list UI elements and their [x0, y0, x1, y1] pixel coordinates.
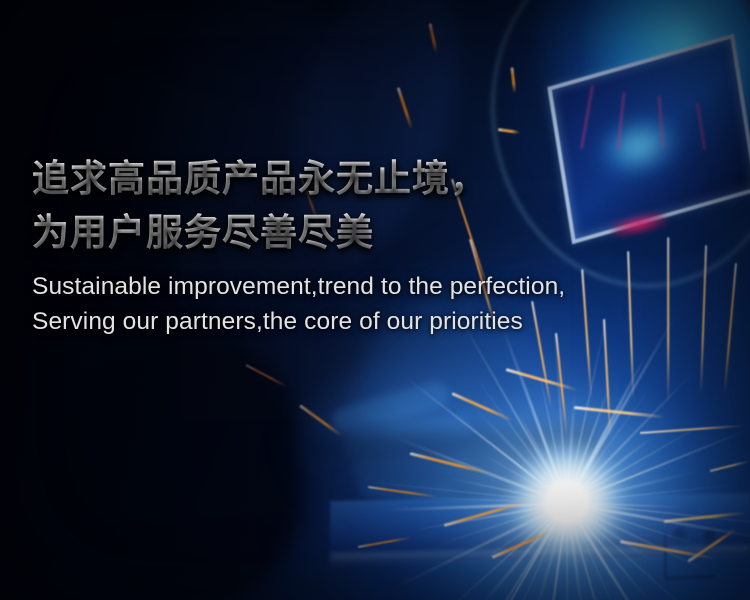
- arc-ray: [501, 502, 567, 600]
- spark-streak: [574, 406, 666, 418]
- arc-ray: [449, 477, 567, 504]
- spark-streak: [723, 263, 736, 395]
- spark-streak: [640, 425, 744, 435]
- spark-streak: [245, 364, 287, 388]
- arc-ray: [566, 436, 653, 505]
- arc-ray: [566, 502, 629, 600]
- arc-ray: [567, 502, 706, 600]
- arc-ray: [387, 502, 567, 511]
- arc-ray: [566, 371, 694, 503]
- arc-ray: [566, 503, 622, 600]
- spark-streak: [710, 460, 749, 472]
- arc-ray: [567, 470, 698, 505]
- spark-streak: [396, 87, 413, 130]
- arc-ray: [538, 368, 568, 503]
- arc-ray: [567, 502, 750, 540]
- arc-ray: [392, 502, 568, 590]
- arc-ray: [567, 484, 742, 504]
- arc-ray: [434, 502, 568, 546]
- welding-hero-banner: 追求高品质产品永无止境， 为用户服务尽善尽美 Sustainable impro…: [0, 0, 750, 600]
- banner-copy: 追求高品质产品永无止境， 为用户服务尽善尽美 Sustainable impro…: [32, 152, 722, 339]
- arc-ray: [442, 502, 568, 600]
- arc-ray: [484, 454, 568, 503]
- spark-streak: [451, 392, 512, 421]
- spark-streak: [664, 511, 746, 522]
- arc-ray: [476, 409, 569, 505]
- arc-ray: [566, 356, 647, 504]
- arc-ray: [554, 331, 568, 503]
- spark-streak: [511, 67, 517, 93]
- headline-cn-line-1: 追求高品质产品永无止境，: [32, 152, 722, 206]
- spark-streak: [299, 404, 343, 437]
- arc-ray: [501, 324, 569, 504]
- arc-ray: [567, 423, 704, 503]
- arc-ray: [566, 503, 567, 600]
- arc-ray: [517, 411, 568, 504]
- arc-ray: [566, 502, 650, 600]
- arc-ray: [532, 503, 569, 600]
- arc-ray: [567, 502, 685, 508]
- arc-ray: [358, 480, 567, 503]
- arc-ray: [394, 436, 568, 505]
- arc-ray: [472, 373, 567, 503]
- arc-ray: [566, 317, 676, 504]
- subhead-en-line-2: Serving our partners,the core of our pri…: [32, 304, 722, 339]
- spark-streak: [498, 128, 520, 134]
- arc-ray: [565, 392, 576, 504]
- arc-ray: [479, 502, 568, 563]
- headline-cn-line-2: 为用户服务尽善尽美: [32, 206, 722, 260]
- arc-ray: [405, 376, 568, 504]
- spark-streak: [491, 530, 551, 558]
- arc-ray: [566, 385, 652, 503]
- arc-ray: [417, 497, 567, 504]
- arc-ray: [566, 503, 659, 600]
- arc-ray: [567, 430, 746, 504]
- arc-ray: [567, 502, 750, 527]
- arc-ray: [467, 503, 568, 600]
- spark-streak: [555, 333, 568, 437]
- arc-ray: [481, 503, 568, 600]
- arc-ray: [413, 502, 567, 531]
- spark-streak: [429, 23, 438, 53]
- subhead-en: Sustainable improvement,trend to the per…: [32, 269, 722, 339]
- spark-streak: [410, 452, 490, 474]
- spark-streak: [444, 500, 527, 526]
- arc-ray: [567, 502, 715, 576]
- spark-streak: [368, 486, 438, 498]
- arc-ray: [567, 502, 702, 547]
- spark-streak: [506, 368, 578, 391]
- arc-ray: [566, 502, 651, 560]
- subhead-en-line-1: Sustainable improvement,trend to the per…: [32, 269, 722, 304]
- spark-streak: [358, 537, 412, 549]
- spark-streak: [620, 540, 715, 559]
- arc-ray: [541, 503, 568, 600]
- arc-ray: [466, 503, 567, 600]
- arc-ray: [456, 312, 568, 504]
- arc-ray: [566, 386, 610, 503]
- spark-streak: [687, 528, 737, 563]
- arc-ray: [565, 503, 583, 600]
